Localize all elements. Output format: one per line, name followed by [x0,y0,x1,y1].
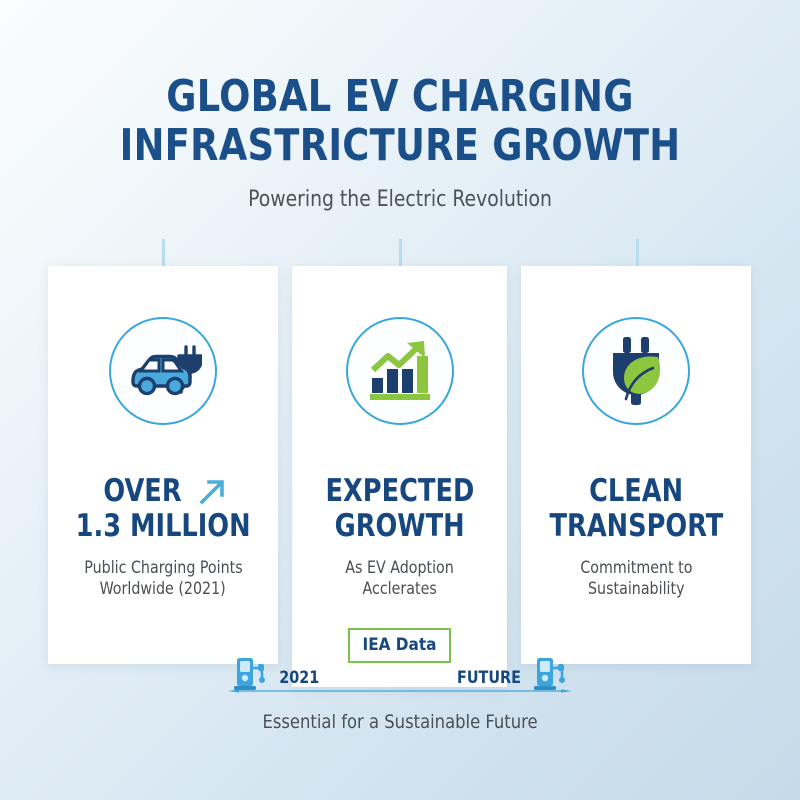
card-3-heading-line-1: CLEAN [589,474,683,509]
card-3-sub-line-1: Commitment to [580,557,692,578]
card-1-heading-line-1: OVER [103,474,181,509]
card-2-heading-line-2: GROWTH [335,509,465,544]
card-2-heading-line-1: EXPECTED [325,474,474,509]
header: GLOBAL EV CHARGING INFRASTRICTURE GROWTH… [0,72,800,212]
growth-chart-icon [366,338,434,404]
card-2-sub-line-1: As EV Adoption [345,557,454,578]
arrow-up-right-icon [199,478,226,505]
stat-card-expected-growth[interactable]: EXPECTED GROWTH As EV Adoption Acclerate… [292,266,507,687]
card-3-sub-line-2: Sustainability [588,578,684,599]
icon-circle-3 [582,317,690,425]
card-1-heading-row: OVER [100,474,226,509]
icon-circle-1 [109,317,217,425]
stat-card-charging-points[interactable]: OVER 1.3 MILLION Public Charging Points … [48,266,278,664]
card-2-sub-line-2: Acclerates [362,578,436,599]
timeline-caption: Essential for a Sustainable Future [16,711,784,733]
page-title-line-1: GLOBAL EV CHARGING [28,72,772,121]
charging-station-icon-right [534,656,566,692]
timeline-section: 2021 FUTURE Essential for a Sustainable … [0,650,800,733]
connector-stem-3 [636,239,639,266]
card-1-sub-line-2: Worldwide (2021) [100,578,226,599]
card-1-heading-line-2: 1.3 MILLION [75,509,250,544]
electric-car-plug-icon [124,336,202,406]
infographic-canvas: GLOBAL EV CHARGING INFRASTRICTURE GROWTH… [0,0,800,800]
timeline-track: 2021 FUTURE [228,650,572,702]
stat-card-clean-transport[interactable]: CLEAN TRANSPORT Commitment to Sustainabi… [521,266,751,664]
page-subtitle: Powering the Electric Revolution [20,187,780,212]
icon-circle-2 [346,317,454,425]
connector-stem-2 [399,239,402,268]
charging-station-icon-left [234,656,266,692]
card-3-heading-line-2: TRANSPORT [549,509,723,544]
card-1-sub-line-1: Public Charging Points [84,557,242,578]
page-title-line-2: INFRASTRICTURE GROWTH [28,121,772,170]
double-arrow-icon [228,689,572,693]
plug-leaf-icon [601,335,671,407]
connector-stem-1 [162,239,165,266]
timeline-end-label: FUTURE [457,668,521,688]
timeline-start-label: 2021 [279,668,319,688]
